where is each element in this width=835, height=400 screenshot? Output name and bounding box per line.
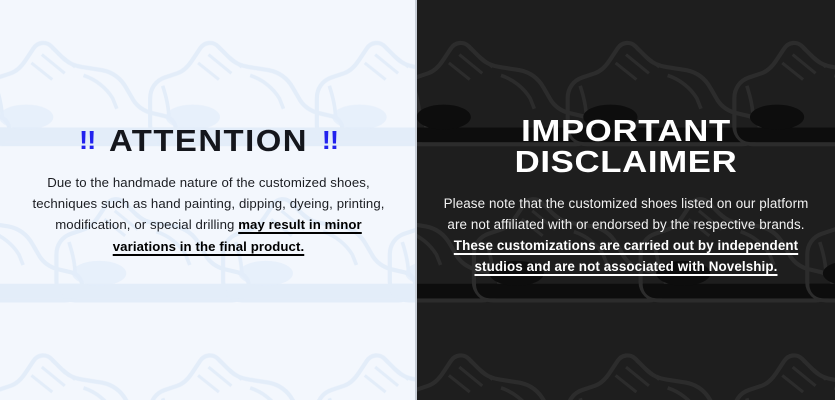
attention-body: Due to the handmade nature of the custom… [24, 172, 393, 258]
disclaimer-heading-line-1: IMPORTANT [419, 115, 833, 146]
disclaimer-panel: IMPORTANT DISCLAIMER Please note that th… [417, 0, 835, 400]
disclaimer-content: IMPORTANT DISCLAIMER Please note that th… [417, 115, 835, 278]
disclaimer-body-plain: Please note that the customized shoes li… [444, 196, 809, 232]
attention-panel: !!ATTENTION!! Due to the handmade nature… [0, 0, 417, 400]
disclaimer-body: Please note that the customized shoes li… [441, 193, 811, 278]
exclamation-right-icon: !! [322, 127, 338, 154]
disclaimer-heading: IMPORTANT DISCLAIMER [419, 115, 833, 177]
disclaimer-body-emphasis: These customizations are carried out by … [454, 238, 798, 274]
disclaimer-heading-line-2: DISCLAIMER [419, 146, 833, 177]
panel-divider [415, 0, 417, 400]
attention-heading-text: ATTENTION [109, 123, 308, 158]
dual-panel-banner: !!ATTENTION!! Due to the handmade nature… [0, 0, 835, 400]
exclamation-left-icon: !! [79, 127, 95, 154]
attention-content: !!ATTENTION!! Due to the handmade nature… [0, 125, 417, 257]
attention-heading: !!ATTENTION!! [13, 125, 404, 158]
